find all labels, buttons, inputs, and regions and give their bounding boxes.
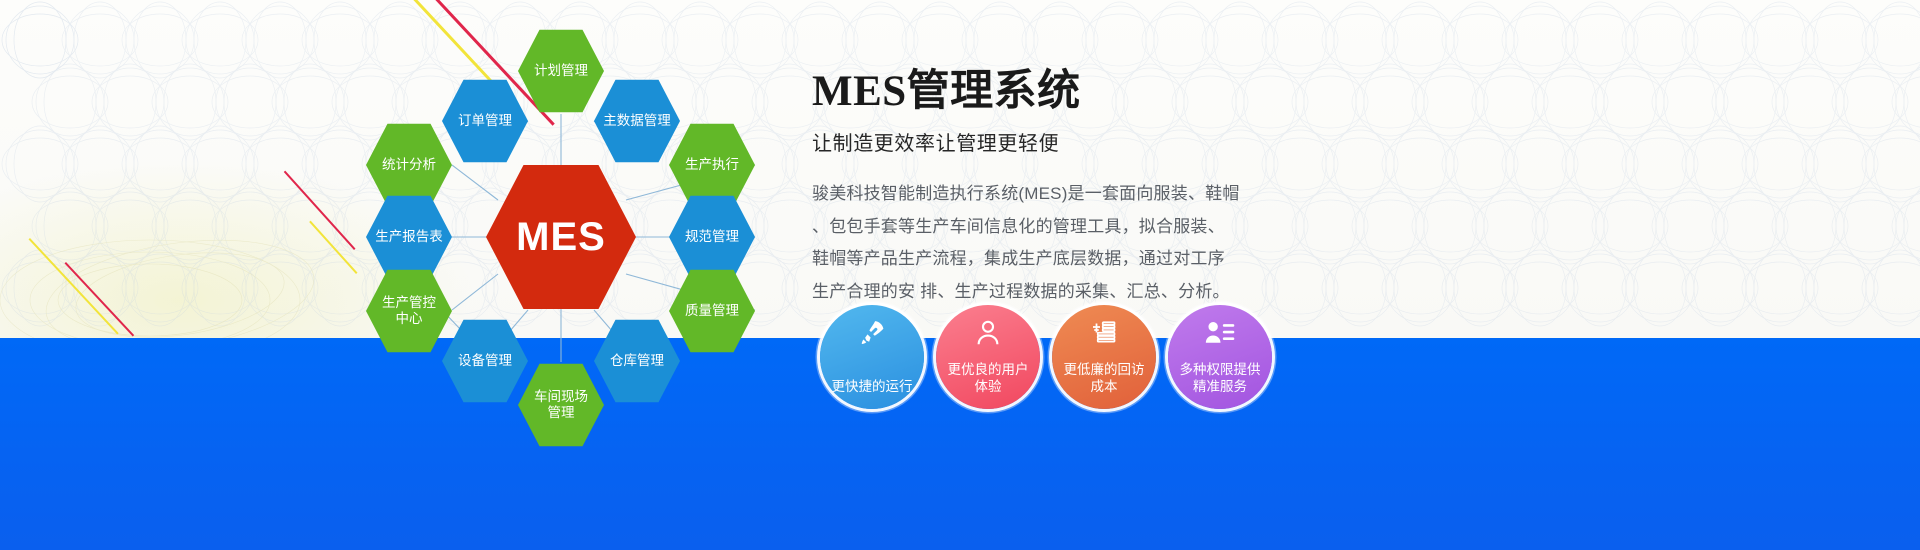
hex-node-label: 主数据管理	[603, 113, 671, 129]
feature-badge-list: 更快捷的运行更优良的用户体验更低廉的回访成本多种权限提供精准服务	[820, 305, 1272, 409]
description-line: 骏美科技智能制造执行系统(MES)是一套面向服装、鞋帽	[812, 178, 1282, 211]
hex-node-label: 计划管理	[534, 63, 588, 79]
hex-node-label: 统计分析	[382, 157, 436, 173]
feature-badge-4[interactable]: 多种权限提供精准服务	[1168, 305, 1272, 409]
hex-node-label: 生产报告表	[375, 229, 443, 245]
hex-node-label: 质量管理	[685, 303, 739, 319]
page-title: MES管理系统	[812, 56, 1282, 118]
user-icon	[973, 318, 1003, 353]
page-subtitle: 让制造更效率让管理更轻便	[812, 127, 1282, 156]
hex-node-label: 订单管理	[458, 113, 512, 129]
coins-icon	[1089, 318, 1119, 353]
feature-badge-label: 多种权限提供精准服务	[1168, 361, 1272, 396]
feature-badge-2[interactable]: 更优良的用户体验	[936, 305, 1040, 409]
hex-node-label: 规范管理	[685, 229, 739, 245]
feature-badge-label: 更低廉的回访成本	[1052, 361, 1156, 396]
feature-badge-1[interactable]: 更快捷的运行	[820, 305, 924, 409]
feature-badge-label: 更优良的用户体验	[936, 361, 1040, 396]
feature-badge-3[interactable]: 更低廉的回访成本	[1052, 305, 1156, 409]
user-list-icon	[1204, 318, 1236, 353]
description-paragraph: 骏美科技智能制造执行系统(MES)是一套面向服装、鞋帽、包包手套等生产车间信息化…	[812, 178, 1282, 309]
rocket-icon	[857, 318, 887, 353]
hex-node-label: 生产管控中心	[382, 295, 436, 326]
mes-hexagon-diagram: MES 计划管理订单管理主数据管理统计分析生产执行生产报告表规范管理生产管控中心…	[330, 10, 800, 440]
description-line: 鞋帽等产品生产流程，集成生产底层数据，通过对工序	[812, 243, 1282, 276]
hex-node-label: 生产执行	[685, 157, 739, 173]
hex-center-label: MES	[516, 214, 606, 260]
hex-node-label: 设备管理	[458, 353, 512, 369]
mes-banner: MES 计划管理订单管理主数据管理统计分析生产执行生产报告表规范管理生产管控中心…	[0, 0, 1920, 550]
description-line: 生产合理的安 排、生产过程数据的采集、汇总、分析。	[812, 276, 1282, 309]
feature-badge-label: 更快捷的运行	[826, 378, 919, 396]
hex-node-label: 仓库管理	[610, 353, 664, 369]
description-line: 、包包手套等生产车间信息化的管理工具，拟合服装、	[812, 211, 1282, 244]
content-column: MES管理系统 让制造更效率让管理更轻便 骏美科技智能制造执行系统(MES)是一…	[812, 56, 1282, 309]
hex-node-label: 车间现场管理	[534, 389, 588, 420]
